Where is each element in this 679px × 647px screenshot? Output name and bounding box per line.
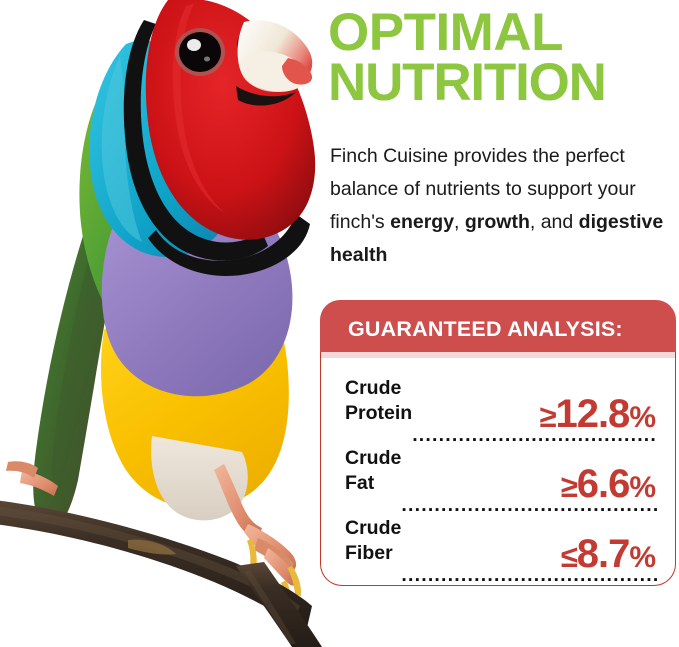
description-sep-1: , bbox=[454, 211, 465, 233]
guaranteed-analysis-panel: GUARANTEED ANALYSIS: Crude Protein .....… bbox=[320, 300, 676, 586]
analysis-row: Crude Protein ..........................… bbox=[345, 376, 657, 446]
product-description: Finch Cuisine provides the perfect balan… bbox=[330, 140, 674, 272]
value-number: 12.8 bbox=[555, 392, 629, 436]
nutrient-value-fiber: ≤8.7% bbox=[561, 534, 655, 574]
nutrient-value-protein: ≥12.8% bbox=[539, 394, 655, 434]
percent-sign: % bbox=[629, 401, 655, 434]
analysis-row: Crude Fat ..............................… bbox=[345, 446, 657, 516]
value-number: 6.6 bbox=[577, 462, 630, 506]
headline-line-2: NUTRITION bbox=[328, 58, 676, 108]
emphasis-energy: energy bbox=[390, 211, 454, 233]
nutrient-label-protein: Crude Protein bbox=[345, 376, 412, 426]
panel-body: Crude Protein ..........................… bbox=[320, 352, 676, 586]
operator-gte: ≥ bbox=[539, 399, 555, 434]
percent-sign: % bbox=[629, 541, 655, 574]
description-sep-2: , and bbox=[530, 211, 579, 233]
finch-photo bbox=[0, 0, 330, 647]
operator-lte: ≤ bbox=[561, 539, 577, 574]
nutrient-label-fat: Crude Fat bbox=[345, 446, 401, 496]
product-infographic: OPTIMAL NUTRITION Finch Cuisine provides… bbox=[0, 0, 679, 647]
panel-title: GUARANTEED ANALYSIS: bbox=[348, 317, 623, 342]
operator-gte: ≥ bbox=[561, 469, 577, 504]
nutrient-value-fat: ≥6.6% bbox=[561, 464, 655, 504]
percent-sign: % bbox=[629, 471, 655, 504]
page-title: OPTIMAL NUTRITION bbox=[328, 8, 676, 109]
panel-header: GUARANTEED ANALYSIS: bbox=[320, 300, 676, 358]
emphasis-growth: growth bbox=[465, 211, 530, 233]
value-number: 8.7 bbox=[577, 532, 630, 576]
nutrient-label-fiber: Crude Fiber bbox=[345, 516, 401, 566]
analysis-row: Crude Fiber ............................… bbox=[345, 516, 657, 586]
